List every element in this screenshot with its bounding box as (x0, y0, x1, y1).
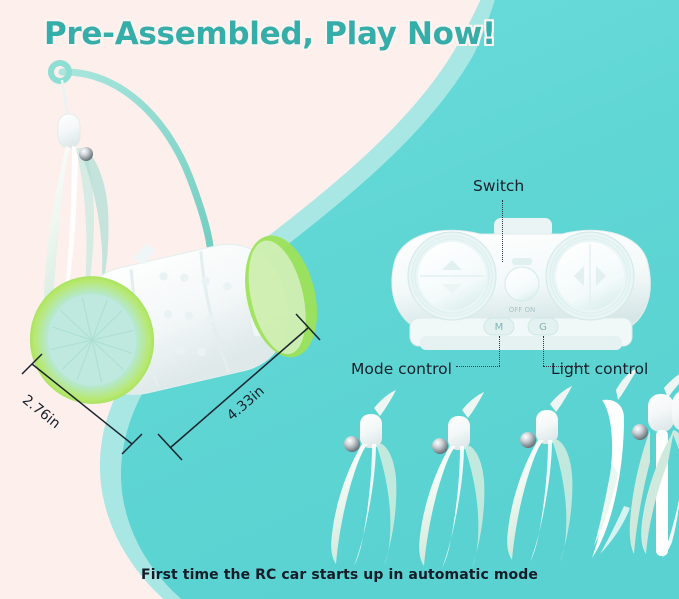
footer-caption: First time the RC car starts up in autom… (0, 567, 679, 583)
remote-control-photo: OFF ON M G (376, 218, 666, 358)
feather-refill-5 (630, 368, 679, 556)
teaser-string (62, 80, 68, 116)
teaser-cap (58, 114, 80, 148)
page-title: Pre-Assembled, Play Now! (44, 16, 496, 52)
dimension-line-width (14, 352, 164, 462)
power-switch-print: OFF ON (509, 306, 536, 314)
feather-refill-1 (331, 390, 396, 566)
power-switch-button[interactable] (505, 267, 539, 301)
label-mode-control: Mode control (351, 360, 452, 378)
product-infographic: Pre-Assembled, Play Now! (0, 0, 679, 599)
leader-line-mode (499, 336, 500, 366)
teaser-bell-icon (79, 147, 93, 161)
label-light-control: Light control (551, 360, 648, 378)
headline: Pre-Assembled, Play Now! (44, 16, 496, 52)
feather-refill-3 (507, 386, 572, 562)
dimension-line-length (150, 320, 330, 470)
label-switch: Switch (473, 177, 524, 195)
feather-refill-2 (419, 392, 484, 568)
feather-refills-photo (322, 386, 679, 571)
light-button-glyph: G (539, 322, 547, 333)
leader-line-light (543, 336, 544, 366)
leader-line-mode-h (456, 366, 500, 367)
leader-line-switch (502, 200, 503, 262)
mode-button-glyph: M (495, 322, 504, 333)
